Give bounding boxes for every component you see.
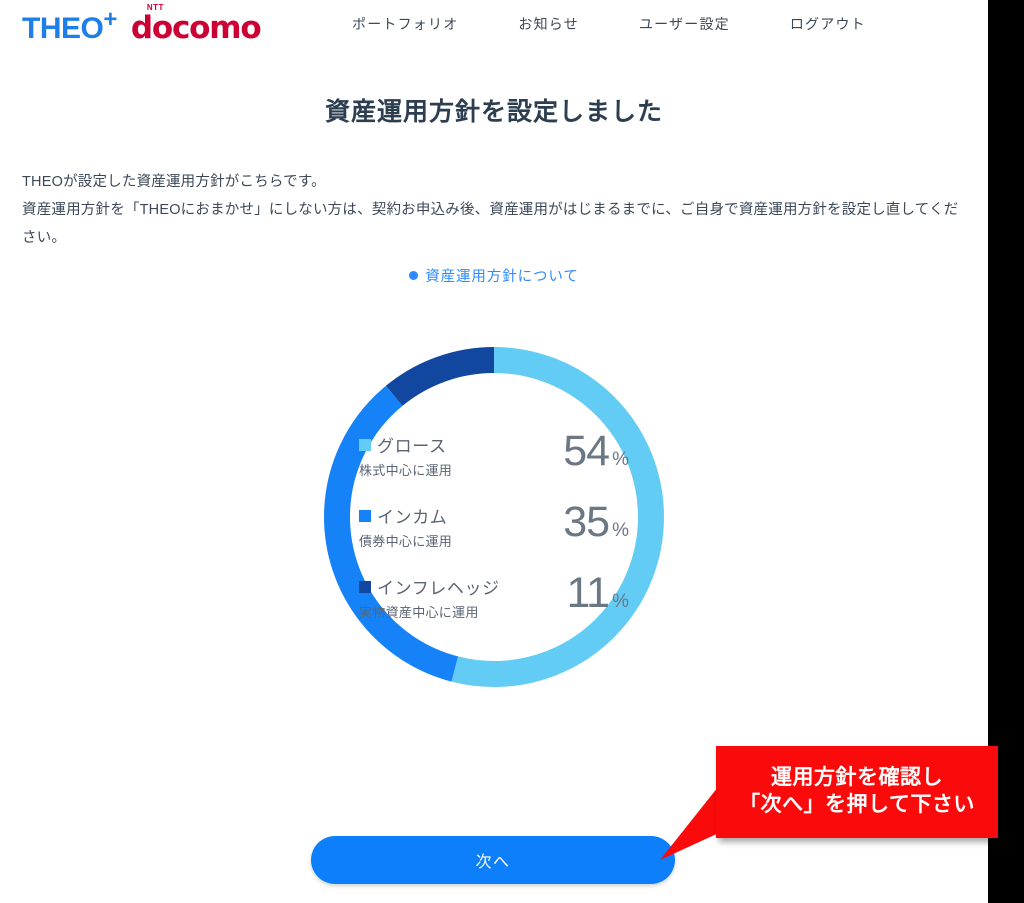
ntt-label: NTT: [147, 4, 164, 12]
allocation-chart: グロース 株式中心に運用 54 % インカム 債券中心に運用: [0, 322, 988, 732]
legend-income-unit: %: [612, 520, 629, 542]
policy-link-label: 資産運用方針について: [425, 265, 579, 286]
legend-inflation-hedge-sublabel: 実物資産中心に運用: [359, 602, 500, 621]
legend-inflation-hedge-number: 11: [566, 572, 609, 615]
legend-growth-number: 54: [563, 430, 609, 473]
legend-item-growth-name: グロース: [359, 432, 452, 457]
legend-income-number: 35: [563, 501, 609, 544]
callout-line-2: 「次へ」を押して下さい: [739, 792, 975, 819]
legend-income-value: 35 %: [557, 501, 629, 544]
main-navigation: ポートフォリオ お知らせ ユーザー設定 ログアウト: [352, 14, 866, 34]
legend-item-growth-text: グロース 株式中心に運用: [359, 430, 452, 479]
legend-item-income-text: インカム 債券中心に運用: [359, 501, 452, 550]
legend-item-income-name: インカム: [359, 503, 452, 528]
next-button[interactable]: 次へ: [311, 836, 675, 884]
bullet-dot-icon: [409, 271, 418, 280]
description-block: THEOが設定した資産運用方針がこちらです。 資産運用方針を「THEOにおまかせ…: [22, 168, 966, 252]
page-root: THEO+ NTT docomo ポートフォリオ お知らせ ユーザー設定 ログア…: [0, 0, 1024, 903]
legend-swatch-growth-icon: [359, 439, 371, 451]
legend-income-label: インカム: [377, 503, 447, 528]
legend-swatch-inflation-hedge-icon: [359, 581, 371, 593]
legend-income-sublabel: 債券中心に運用: [359, 531, 452, 550]
site-header: THEO+ NTT docomo ポートフォリオ お知らせ ユーザー設定 ログア…: [0, 0, 988, 56]
legend-growth-value: 54 %: [557, 430, 629, 473]
legend-swatch-income-icon: [359, 510, 371, 522]
brand-logo[interactable]: THEO+ NTT docomo: [22, 8, 260, 44]
legend-growth-label: グロース: [377, 432, 447, 457]
callout-text: 運用方針を確認し 「次へ」を押して下さい: [716, 746, 998, 838]
chart-legend: グロース 株式中心に運用 54 % インカム 債券中心に運用: [359, 430, 629, 621]
docomo-logo-icon: NTT docomo: [131, 13, 261, 44]
legend-item-growth: グロース 株式中心に運用 54 %: [359, 430, 629, 479]
callout-box: 運用方針を確認し 「次へ」を押して下さい: [716, 746, 998, 838]
callout-line-1: 運用方針を確認し: [771, 765, 943, 792]
theo-logo-icon: THEO+: [22, 8, 117, 44]
docomo-logo-text: docomo: [131, 10, 261, 46]
theo-logo-text: THEO: [22, 12, 103, 45]
nav-item-notices[interactable]: お知らせ: [518, 14, 579, 34]
page-title: 資産運用方針を設定しました: [0, 92, 988, 128]
legend-item-inflation-hedge-text: インフレヘッジ 実物資産中心に運用: [359, 572, 500, 621]
description-line-1: THEOが設定した資産運用方針がこちらです。: [22, 168, 966, 196]
policy-link-row: 資産運用方針について: [0, 265, 988, 286]
theo-plus-icon: +: [103, 6, 117, 33]
legend-item-inflation-hedge-name: インフレヘッジ: [359, 574, 500, 599]
legend-inflation-hedge-unit: %: [612, 591, 629, 613]
legend-inflation-hedge-label: インフレヘッジ: [377, 574, 500, 599]
nav-item-user-settings[interactable]: ユーザー設定: [639, 14, 730, 34]
legend-growth-unit: %: [612, 449, 629, 471]
legend-growth-sublabel: 株式中心に運用: [359, 460, 452, 479]
description-line-2: 資産運用方針を「THEOにおまかせ」にしない方は、契約お申込み後、資産運用がはじ…: [22, 196, 966, 252]
nav-item-portfolio[interactable]: ポートフォリオ: [352, 14, 458, 34]
policy-link[interactable]: 資産運用方針について: [409, 265, 579, 286]
nav-item-logout[interactable]: ログアウト: [790, 14, 866, 34]
legend-item-income: インカム 債券中心に運用 35 %: [359, 501, 629, 550]
legend-inflation-hedge-value: 11 %: [560, 572, 629, 615]
legend-item-inflation-hedge: インフレヘッジ 実物資産中心に運用 11 %: [359, 572, 629, 621]
